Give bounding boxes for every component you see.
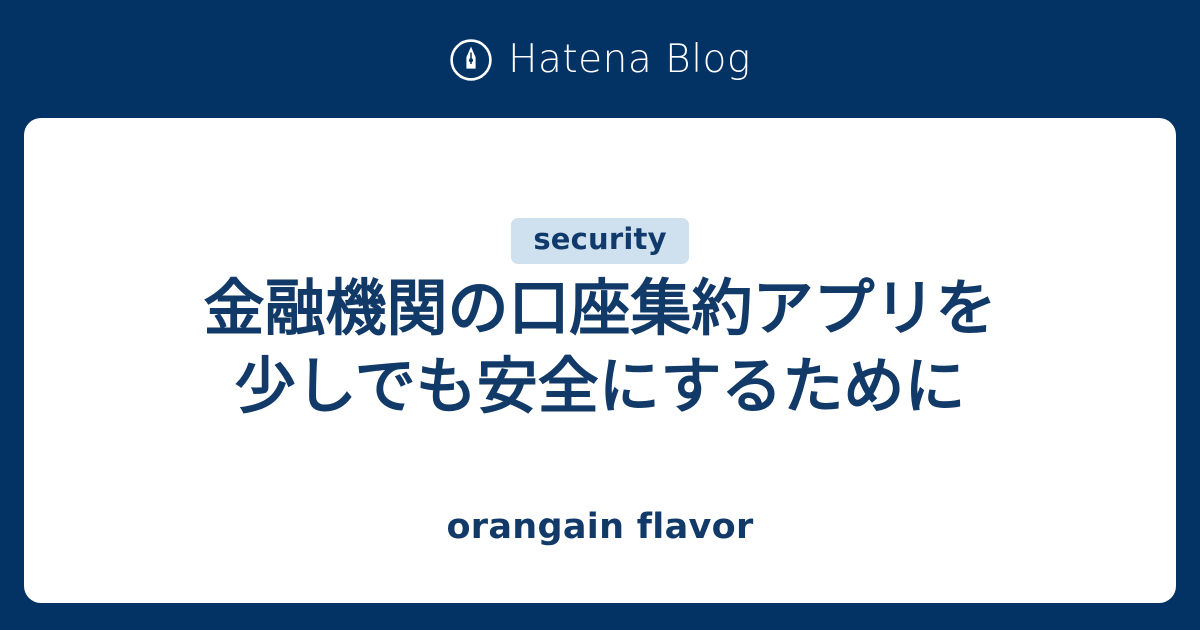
service-name: Hatena Blog (508, 40, 751, 79)
entry-title: 金融機関の口座集約アプリを 少しでも安全にするために (24, 270, 1176, 426)
pen-nib-circle-icon (449, 38, 493, 82)
entry-card: security 金融機関の口座集約アプリを 少しでも安全にするために oran… (24, 118, 1176, 603)
brand-header: Hatena Blog (0, 0, 1200, 118)
blog-name[interactable]: orangain flavor (24, 506, 1176, 548)
entry-title-line-2: 少しでも安全にするために (24, 348, 1176, 426)
entry-card-inner: security 金融機関の口座集約アプリを 少しでも安全にするために oran… (24, 118, 1176, 603)
category-tag-row: security (24, 218, 1176, 264)
category-tag-security[interactable]: security (511, 218, 688, 264)
ogp-card-canvas: Hatena Blog security 金融機関の口座集約アプリを 少しでも安… (0, 0, 1200, 630)
entry-title-line-1: 金融機関の口座集約アプリを (24, 270, 1176, 348)
